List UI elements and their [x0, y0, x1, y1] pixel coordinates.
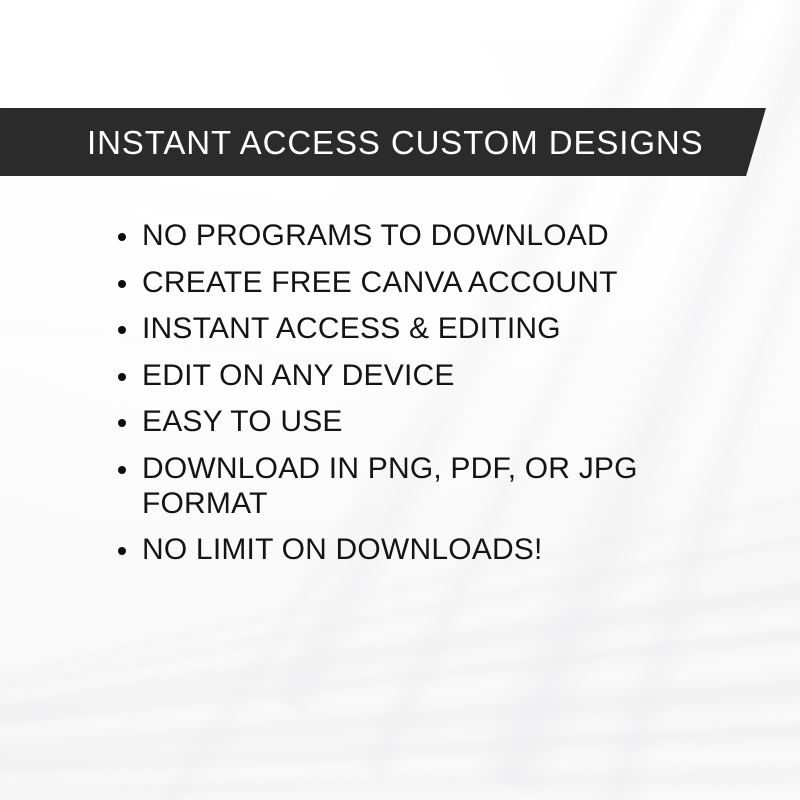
list-item-label: INSTANT ACCESS & EDITING [142, 312, 561, 345]
list-item-label: EASY TO USE [142, 405, 343, 438]
feature-list: NO PROGRAMS TO DOWNLOAD CREATE FREE CANV… [118, 218, 718, 579]
list-item: NO PROGRAMS TO DOWNLOAD [118, 218, 718, 253]
list-item: DOWNLOAD IN PNG, PDF, OR JPG FORMAT [118, 451, 718, 521]
list-item-label: CREATE FREE CANVA ACCOUNT [142, 266, 618, 299]
list-item-label: NO PROGRAMS TO DOWNLOAD [142, 219, 609, 252]
promo-graphic: INSTANT ACCESS CUSTOM DESIGNS NO PROGRAM… [0, 0, 800, 800]
page-title: INSTANT ACCESS CUSTOM DESIGNS [87, 126, 704, 159]
list-item: CREATE FREE CANVA ACCOUNT [118, 265, 718, 300]
list-item-label: EDIT ON ANY DEVICE [142, 359, 455, 392]
header-banner: INSTANT ACCESS CUSTOM DESIGNS [0, 108, 766, 176]
list-item: NO LIMIT ON DOWNLOADS! [118, 532, 718, 567]
list-item-label: NO LIMIT ON DOWNLOADS! [142, 533, 543, 566]
list-item: EDIT ON ANY DEVICE [118, 358, 718, 393]
list-item: EASY TO USE [118, 404, 718, 439]
list-item-label: DOWNLOAD IN PNG, PDF, OR JPG FORMAT [142, 452, 638, 520]
list-item: INSTANT ACCESS & EDITING [118, 311, 718, 346]
